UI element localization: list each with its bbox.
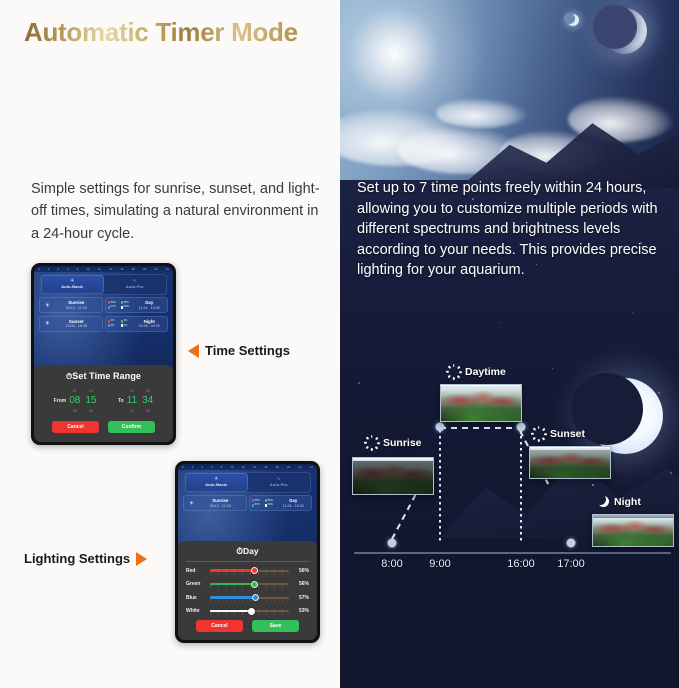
callout-lighting-settings: Lighting Settings xyxy=(24,551,147,566)
channel-swatch xyxy=(108,306,111,309)
lighting-dialog-buttons: Cancel Save xyxy=(186,620,309,632)
sun-ray xyxy=(374,445,377,448)
right-description: Set up to 7 time points freely within 24… xyxy=(357,178,667,281)
star-icon xyxy=(500,322,501,323)
arrow-right-icon xyxy=(136,552,147,566)
slider-value: 57% xyxy=(293,595,309,601)
slider-fill xyxy=(210,596,255,598)
sun-ray xyxy=(453,363,455,366)
period-name: Sunrise xyxy=(53,300,100,305)
from-hour-prev[interactable]: 07 xyxy=(69,387,80,395)
slider-fill xyxy=(210,610,252,612)
period-row: ☀Sunrise08:15 - 11:3456%56%57%53%Day11:3… xyxy=(39,297,168,313)
period-time-range: 11:34 - 15:00 xyxy=(278,504,310,508)
chart-tick-0: 8:00 xyxy=(381,558,402,570)
sky-photo xyxy=(340,0,679,180)
lighting-dialog-title: ⏱Day xyxy=(186,546,309,562)
period-name: Day xyxy=(278,498,310,503)
from-minute-prev[interactable]: 14 xyxy=(85,387,96,395)
cancel-button[interactable]: Cancel xyxy=(52,421,99,433)
to-minute-next[interactable]: 35 xyxy=(142,407,153,415)
chart-axis xyxy=(354,552,671,554)
period-cell-sunset[interactable]: ☀Sunset15:00 - 18:45 xyxy=(39,316,103,332)
period-cell-day[interactable]: 56%56%57%53%Day11:34 - 15:00 xyxy=(249,495,313,511)
dialog-buttons: Cancel Confirm xyxy=(41,421,166,433)
hour-tick: 6 xyxy=(67,268,69,271)
slider-label: Red xyxy=(186,568,206,574)
hour-tick: 24 xyxy=(166,268,169,271)
sunset-sun-icon xyxy=(531,426,546,441)
period-name: Sunset xyxy=(53,319,100,324)
slider-knob[interactable] xyxy=(251,567,258,574)
from-hour-value[interactable]: 08 xyxy=(69,395,80,407)
channel-blue: 2% xyxy=(108,324,120,328)
tank-thumbnail-night xyxy=(592,514,674,547)
sun-ray xyxy=(371,447,373,450)
period-channel-values: 56%56%57%53% xyxy=(108,301,134,310)
hour-tick: 8 xyxy=(77,268,79,271)
hour-tick: 8 xyxy=(221,466,223,469)
hour-tick: 12 xyxy=(242,466,245,469)
from-label: From xyxy=(54,398,67,404)
time-picker-from[interactable]: From 07 08 09 14 15 16 xyxy=(54,387,97,415)
sun-ray xyxy=(530,433,533,435)
left-panel: Automatic Timer Mode Simple settings for… xyxy=(0,0,340,688)
phone1-period-list: ☀Sunrise08:15 - 11:3456%56%57%53%Day11:3… xyxy=(39,297,168,332)
channel-white: 53% xyxy=(265,503,277,507)
hour-tick: 20 xyxy=(287,466,290,469)
tank-aquascape xyxy=(593,518,673,546)
sunrise-icon: ☀ xyxy=(186,500,197,507)
star-icon xyxy=(386,292,387,293)
hour-tick: 24 xyxy=(310,466,313,469)
chart-node-16 xyxy=(517,423,526,432)
period-text: Day11:34 - 15:00 xyxy=(134,300,166,310)
channel-red: 0% xyxy=(108,319,120,323)
channel-swatch xyxy=(108,324,111,327)
sun-ray xyxy=(453,376,455,379)
day-lighting-dialog: ⏱Day Red56%Green56%Blue57%White53% Cance… xyxy=(178,541,317,641)
sun-ray xyxy=(541,436,544,439)
to-minute-wheel[interactable]: 33 34 35 xyxy=(142,387,153,415)
lighting-cancel-button[interactable]: Cancel xyxy=(196,620,243,632)
period-cell-night[interactable]: 0%0%2%0%Night18:45 - 09:00 xyxy=(105,316,169,332)
from-minute-next[interactable]: 16 xyxy=(85,407,96,415)
chart-dropline-16 xyxy=(520,430,522,542)
star-icon xyxy=(632,312,633,313)
mode-tab-label: Auto-Pro xyxy=(248,482,311,488)
slider-label: White xyxy=(186,608,206,614)
hour-tick: 4 xyxy=(201,466,203,469)
sun-ray xyxy=(445,371,448,373)
chart-segment-daytime-plateau xyxy=(440,427,520,429)
sun-ray xyxy=(376,442,379,444)
chart-label-night-text: Night xyxy=(614,496,641,508)
mode-tab-label: Auto-Basic xyxy=(41,284,104,290)
mode-tab-auto-pro[interactable]: ∿Auto-Pro xyxy=(248,473,311,492)
chart-label-daytime: Daytime xyxy=(446,364,506,379)
chart-label-night: Night xyxy=(597,495,641,508)
hour-tick: 0 xyxy=(182,466,184,469)
period-row: ☀Sunset15:00 - 18:450%0%2%0%Night18:45 -… xyxy=(39,316,168,332)
period-name: Day xyxy=(134,300,166,305)
page-title: Automatic Timer Mode xyxy=(24,17,298,48)
channel-white: 0% xyxy=(121,324,133,328)
slider-knob[interactable] xyxy=(251,581,258,588)
channel-swatch xyxy=(252,499,255,502)
confirm-button[interactable]: Confirm xyxy=(108,421,155,433)
sun-ray xyxy=(447,374,450,377)
mode-tab-auto-basic[interactable]: ☀Auto-Basic xyxy=(41,275,104,294)
right-panel: Set up to 7 time points freely within 24… xyxy=(340,0,679,688)
slider-track-white[interactable] xyxy=(210,607,289,616)
daytime-sun-icon xyxy=(446,364,461,379)
sun-ray xyxy=(538,438,540,441)
hour-tick: 10 xyxy=(86,268,89,271)
channel-swatch xyxy=(108,301,111,304)
arrow-left-icon xyxy=(188,344,199,358)
slider-track-green[interactable] xyxy=(210,580,289,589)
period-time-range: 11:34 - 15:00 xyxy=(134,306,166,310)
sun-ray xyxy=(447,365,450,368)
sunset-icon: ☀ xyxy=(42,320,53,327)
chart-label-daytime-text: Daytime xyxy=(465,366,506,378)
tank-aquascape xyxy=(530,450,610,478)
time-picker[interactable]: From 07 08 09 14 15 16 xyxy=(41,386,166,417)
sunrise-icon: ☀ xyxy=(42,302,53,309)
from-minute-value[interactable]: 15 xyxy=(85,395,96,407)
sun-ray xyxy=(365,436,368,439)
to-label: To xyxy=(118,398,124,404)
hour-tick: 4 xyxy=(57,268,59,271)
period-name: Night xyxy=(134,319,166,324)
timeline-chart: 8:00 9:00 16:00 17:00 Sunrise xyxy=(340,352,679,602)
phone1-mode-tabs[interactable]: ☀Auto-Basic∿Auto-Pro xyxy=(40,274,167,295)
slider-value: 56% xyxy=(293,568,309,574)
sun-ray xyxy=(532,427,535,430)
phone2-mode-tabs[interactable]: ☀Auto-Basic∿Auto-Pro xyxy=(184,472,311,493)
period-channel-values: 0%0%2%0% xyxy=(108,319,134,328)
period-text: Sunrise08:15 - 11:34 xyxy=(53,300,100,310)
page-root: Automatic Timer Mode Simple settings for… xyxy=(0,0,679,688)
hour-tick: 10 xyxy=(230,466,233,469)
slider-track-red[interactable] xyxy=(210,566,289,575)
slider-value: 56% xyxy=(293,581,309,587)
callout-lighting-settings-label: Lighting Settings xyxy=(24,551,130,566)
sun-ray xyxy=(365,445,368,448)
chart-tick-2: 16:00 xyxy=(507,558,535,570)
chart-tick-1: 9:00 xyxy=(429,558,450,570)
period-cell-sunrise[interactable]: ☀Sunrise08:15 - 11:34 xyxy=(183,495,247,511)
callout-time-settings-label: Time Settings xyxy=(205,343,290,358)
hour-tick: 16 xyxy=(264,466,267,469)
hour-tick: 12 xyxy=(98,268,101,271)
hour-tick: 2 xyxy=(48,268,50,271)
slider-track-blue[interactable] xyxy=(210,593,289,602)
slider-value: 53% xyxy=(293,608,309,614)
sun-ray xyxy=(541,427,544,430)
channel-swatch xyxy=(108,320,111,323)
phone-mockup-lighting-settings: 024681012141618202224 ☀Auto-Basic∿Auto-P… xyxy=(175,461,320,643)
slider-row-blue[interactable]: Blue57% xyxy=(186,593,309,602)
period-row: ☀Sunrise08:15 - 11:3456%56%57%53%Day11:3… xyxy=(183,495,312,511)
to-minute-prev[interactable]: 33 xyxy=(142,387,153,395)
slider-row-red[interactable]: Red56% xyxy=(186,566,309,575)
mode-tab-label: Auto-Pro xyxy=(104,284,167,290)
chart-label-sunset: Sunset xyxy=(531,426,585,441)
channel-swatch xyxy=(265,499,268,502)
chart-node-8 xyxy=(388,539,397,548)
period-time-range: 08:15 - 11:34 xyxy=(197,504,244,508)
tank-aquascape xyxy=(441,388,521,421)
sun-ray xyxy=(458,371,461,373)
from-hour-next[interactable]: 09 xyxy=(69,407,80,415)
hour-tick: 6 xyxy=(211,466,213,469)
channel-swatch xyxy=(121,301,124,304)
tank-aquascape xyxy=(353,461,433,494)
channel-green: 0% xyxy=(121,319,133,323)
channel-blue: 57% xyxy=(252,503,264,507)
chart-tick-3: 17:00 xyxy=(557,558,585,570)
phone2-hour-ruler: 024681012141618202224 xyxy=(178,464,317,470)
sun-ray xyxy=(374,436,377,439)
dialog-title: ⏱Set Time Range xyxy=(41,371,166,382)
phone1-screen: 024681012141618202224 ☀Auto-Basic∿Auto-P… xyxy=(34,266,173,442)
channel-blue: 57% xyxy=(108,305,120,309)
period-cell-sunrise[interactable]: ☀Sunrise08:15 - 11:34 xyxy=(39,297,103,313)
slider-fill xyxy=(210,583,254,585)
period-time-range: 15:00 - 18:45 xyxy=(53,324,100,328)
intro-paragraph: Simple settings for sunrise, sunset, and… xyxy=(31,178,321,245)
to-hour-wheel[interactable]: 10 11 12 xyxy=(127,387,137,415)
channel-swatch xyxy=(265,504,268,507)
dialog-title-text: Set Time Range xyxy=(72,371,141,381)
chart-dropline-9 xyxy=(439,430,441,542)
from-minute-wheel[interactable]: 14 15 16 xyxy=(85,387,96,415)
slider-knob[interactable] xyxy=(252,594,259,601)
sunrise-sun-icon xyxy=(364,435,379,450)
sun-ray xyxy=(543,433,546,435)
time-picker-to[interactable]: To 10 11 12 33 34 35 xyxy=(118,387,153,415)
phone1-hour-ruler: 024681012141618202224 xyxy=(34,266,173,272)
lighting-save-button[interactable]: Save xyxy=(252,620,299,632)
sun-ray xyxy=(456,365,459,368)
channel-slider-list: Red56%Green56%Blue57%White53% xyxy=(186,566,309,616)
sun-ray xyxy=(538,425,540,428)
lighting-dialog-title-text: Day xyxy=(243,546,259,556)
hour-tick: 20 xyxy=(143,268,146,271)
channel-white: 53% xyxy=(121,305,133,309)
hour-tick: 22 xyxy=(154,268,157,271)
from-hour-wheel[interactable]: 07 08 09 xyxy=(69,387,80,415)
period-channel-values: 56%56%57%53% xyxy=(252,499,278,508)
set-time-range-dialog: ⏱Set Time Range From 07 08 09 xyxy=(34,365,173,442)
sun-ray xyxy=(363,442,366,444)
period-name: Sunrise xyxy=(197,498,244,503)
slider-row-green[interactable]: Green56% xyxy=(186,580,309,589)
period-time-range: 18:45 - 09:00 xyxy=(134,324,166,328)
period-cell-day[interactable]: 56%56%57%53%Day11:34 - 15:00 xyxy=(105,297,169,313)
hour-tick: 18 xyxy=(132,268,135,271)
to-hour-next[interactable]: 12 xyxy=(127,407,137,415)
period-text: Sunrise08:15 - 11:34 xyxy=(197,498,244,508)
mode-tab-auto-pro[interactable]: ∿Auto-Pro xyxy=(104,275,167,294)
slider-knob[interactable] xyxy=(248,608,255,615)
period-text: Sunset15:00 - 18:45 xyxy=(53,319,100,329)
channel-swatch xyxy=(252,504,255,507)
chart-label-sunrise: Sunrise xyxy=(364,435,422,450)
tank-thumbnail-sunset xyxy=(529,446,611,479)
mode-tab-auto-basic[interactable]: ☀Auto-Basic xyxy=(185,473,248,492)
phone2-screen: 024681012141618202224 ☀Auto-Basic∿Auto-P… xyxy=(178,464,317,640)
period-text: Night18:45 - 09:00 xyxy=(134,319,166,329)
hour-tick: 14 xyxy=(109,268,112,271)
slider-fill xyxy=(210,569,254,571)
chart-node-9 xyxy=(436,423,445,432)
hour-tick: 22 xyxy=(298,466,301,469)
sun-ray xyxy=(532,436,535,439)
crescent-moon-icon xyxy=(601,8,647,54)
callout-time-settings: Time Settings xyxy=(188,343,290,358)
slider-label: Blue xyxy=(186,595,206,601)
hour-tick: 16 xyxy=(120,268,123,271)
period-text: Day11:34 - 15:00 xyxy=(278,498,310,508)
moon-icon xyxy=(597,495,610,508)
sun-ray xyxy=(456,374,459,377)
chart-label-sunrise-text: Sunrise xyxy=(383,437,422,449)
hour-tick: 14 xyxy=(253,466,256,469)
chart-label-sunset-text: Sunset xyxy=(550,428,585,440)
tank-thumbnail-daytime xyxy=(440,384,522,422)
hour-tick: 18 xyxy=(276,466,279,469)
mode-tab-label: Auto-Basic xyxy=(185,482,248,488)
phone2-period-list: ☀Sunrise08:15 - 11:3456%56%57%53%Day11:3… xyxy=(183,495,312,511)
small-crescent-moon-icon xyxy=(567,14,579,26)
phone-mockup-time-settings: 024681012141618202224 ☀Auto-Basic∿Auto-P… xyxy=(31,263,176,445)
tank-thumbnail-sunrise xyxy=(352,457,434,495)
channel-swatch xyxy=(121,324,124,327)
slider-label: Green xyxy=(186,581,206,587)
chart-node-17 xyxy=(567,539,576,548)
period-time-range: 08:15 - 11:34 xyxy=(53,306,100,310)
channel-swatch xyxy=(121,306,124,309)
slider-row-white[interactable]: White53% xyxy=(186,607,309,616)
cloud-icon xyxy=(436,98,528,128)
to-minute-value[interactable]: 34 xyxy=(142,395,153,407)
hour-tick: 0 xyxy=(38,268,40,271)
sun-ray xyxy=(371,434,373,437)
channel-swatch xyxy=(121,320,124,323)
to-hour-prev[interactable]: 10 xyxy=(127,387,137,395)
to-hour-value[interactable]: 11 xyxy=(127,395,137,407)
hour-tick: 2 xyxy=(192,466,194,469)
